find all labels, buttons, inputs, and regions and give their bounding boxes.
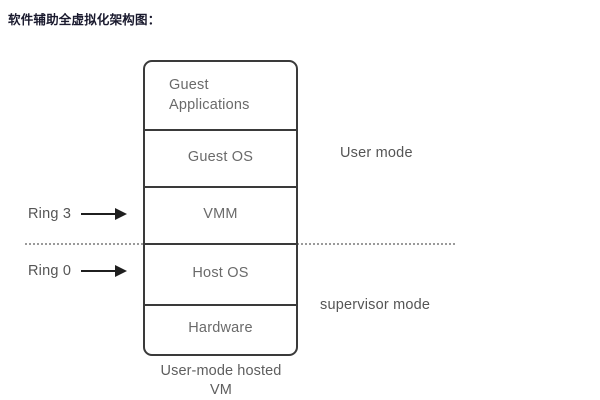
- layer-divider: [145, 304, 296, 306]
- supervisor-mode-label: supervisor mode: [320, 297, 430, 313]
- arrow-shaft: [81, 270, 119, 272]
- guest-applications-line-2: Applications: [169, 97, 250, 113]
- diagram-caption: User-mode hosted VM: [143, 362, 299, 400]
- ring-3-label: Ring 3: [28, 206, 71, 222]
- vm-stack-box: GuestApplications Guest OS VMM Host OS H…: [143, 60, 298, 356]
- stack-layer-label: GuestApplications: [145, 76, 296, 114]
- stack-layer-vmm: VMM: [145, 186, 296, 243]
- layer-divider: [145, 129, 296, 131]
- stack-layer-label: Host OS: [145, 264, 296, 283]
- layer-divider: [145, 186, 296, 188]
- stack-layer-label: Hardware: [145, 319, 296, 338]
- caption-line-2: VM: [143, 381, 299, 400]
- arrow-head: [115, 265, 127, 277]
- arrow-right-icon: [81, 265, 129, 277]
- ring-0-annotation: Ring 0: [28, 261, 129, 281]
- caption-line-1: User-mode hosted: [161, 363, 282, 379]
- arrow-right-icon: [81, 208, 129, 220]
- arrow-shaft: [81, 213, 119, 215]
- ring-0-label: Ring 0: [28, 263, 71, 279]
- arrow-head: [115, 208, 127, 220]
- layer-divider: [145, 243, 296, 245]
- user-mode-label: User mode: [340, 145, 413, 161]
- stack-layer-guest-os: Guest OS: [145, 129, 296, 186]
- architecture-diagram: GuestApplications Guest OS VMM Host OS H…: [0, 0, 600, 400]
- stack-layer-hardware: Hardware: [145, 304, 296, 353]
- stack-layer-guest-applications: GuestApplications: [145, 62, 296, 129]
- guest-applications-line-1: Guest: [169, 77, 209, 93]
- stack-layer-label: VMM: [145, 205, 296, 224]
- stack-layer-host-os: Host OS: [145, 243, 296, 304]
- stack-layer-label: Guest OS: [145, 148, 296, 167]
- ring-3-annotation: Ring 3: [28, 204, 129, 224]
